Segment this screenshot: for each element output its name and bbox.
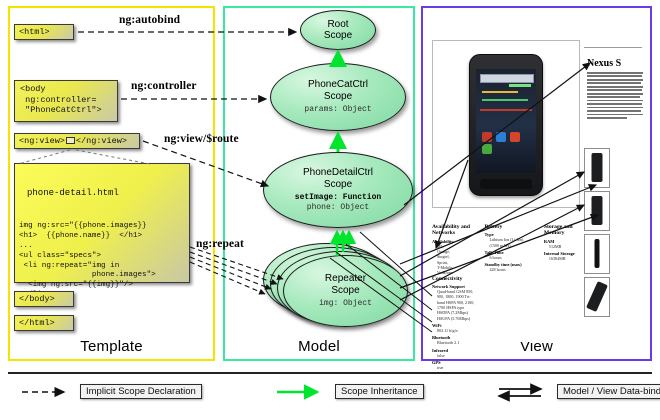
column-label-template: Template <box>10 338 213 355</box>
scope-root-name-line1: Root <box>327 19 348 30</box>
scope-repeater-props: img: Object <box>319 299 372 309</box>
spec-column-storage: Storage and Memory RAM 512MB Internal St… <box>544 224 592 261</box>
spec-values-1-2: 428 hours <box>484 267 534 272</box>
spec-column-battery: Battery Type Lithium Ion (Li-Ion)(1500 m… <box>484 224 534 273</box>
note-title: phone-detail.html <box>19 186 185 203</box>
phone-content-line-1 <box>482 91 518 93</box>
phone-url-bar <box>480 74 534 83</box>
legend-swatch-green-arrow-icon <box>275 385 327 399</box>
product-title: Nexus S <box>587 58 621 69</box>
spec-heading-3: Connectivity <box>432 276 484 282</box>
scope-phonedetailctrl-setimage: setImage: Function <box>295 193 381 202</box>
diagram-canvas: Template Model View <html> <body ng:cont… <box>0 0 660 420</box>
legend-item-implicit-scope-declaration: Implicit Scope Declaration <box>20 383 202 400</box>
scope-root: Root Scope <box>300 10 376 50</box>
product-description <box>587 72 643 121</box>
spec-values-0-0: M1,Orange,Singtel,Sprint,T-Mobile,Vodafo… <box>432 244 475 276</box>
ng-view-close-tag: </ng:view> <box>76 136 127 146</box>
edge-label-ng-controller: ng:controller <box>131 80 197 92</box>
phone-screen <box>476 69 536 173</box>
legend-label-scope-inheritance: Scope Inheritance <box>335 384 424 399</box>
scope-phonedetailctrl-props: setImage: Functionphone: Object <box>295 193 381 213</box>
scope-phonecatctrl-name-line1: PhoneCatCtrl <box>308 79 368 90</box>
phone-app-icon-1 <box>482 132 492 142</box>
thumb-image-1 <box>592 153 603 182</box>
view-top-rule <box>584 47 642 48</box>
edge-label-ng-autobind: ng:autobind <box>119 14 180 26</box>
phone-app-icon-3 <box>510 132 520 142</box>
spec-heading-0: Availability and Networks <box>432 224 475 237</box>
spec-values-3-0: Quad-band GSM 850,900, 1800, 1900 Tri-ba… <box>432 289 484 321</box>
spec-heading-2: Storage and Memory <box>544 224 592 237</box>
code-box-html-close: </html> <box>14 315 74 331</box>
spec-values-3-4: true <box>432 365 484 370</box>
spec-column-availability: Availability and Networks Availability M… <box>432 224 475 276</box>
legend-swatch-dashed-arrow-icon <box>20 385 72 399</box>
scope-phonedetailctrl-name-line1: PhoneDetailCtrl <box>303 167 373 178</box>
scope-repeater: Repeater Scope img: Object <box>283 255 408 327</box>
scope-phonecatctrl: PhoneCatCtrl Scope params: Object <box>270 63 406 131</box>
thumb-image-2 <box>592 196 603 225</box>
spec-values-2-0: 512MB <box>544 244 592 249</box>
scope-phonedetailctrl-phone: phone: Object <box>307 203 369 212</box>
code-box-ng-view: <ng:view></ng:view> <box>14 133 140 149</box>
legend-label-implicit-scope-declaration: Implicit Scope Declaration <box>80 384 202 399</box>
phone-home-button-row <box>480 179 532 189</box>
phone-hero-image-frame <box>432 40 580 208</box>
legend-swatch-double-arrow-icon <box>497 385 549 399</box>
legend-label-model-view-data-binding: Model / View Data-binding <box>557 384 660 399</box>
phone-device-illustration <box>469 54 543 196</box>
phone-app-icon-2 <box>496 132 506 142</box>
spec-heading-1: Battery <box>484 224 534 230</box>
spec-values-3-2: Bluetooth 2.1 <box>432 340 484 345</box>
scope-phonecatctrl-props: params: Object <box>304 105 371 115</box>
legend-item-scope-inheritance: Scope Inheritance <box>275 383 424 400</box>
legend-divider <box>8 372 652 374</box>
scope-phonedetailctrl: PhoneDetailCtrl Scope setImage: Function… <box>263 152 413 228</box>
legend-item-model-view-data-binding: Model / View Data-binding <box>497 383 660 400</box>
phone-content-line-3 <box>480 109 532 111</box>
phone-app-icon-4 <box>482 144 492 154</box>
spec-values-2-1: 16384MB <box>544 256 592 261</box>
spec-values-3-3: false <box>432 353 484 358</box>
edge-label-ng-view-route: ng:view/$route <box>164 133 239 145</box>
ng-view-open-tag: <ng:view> <box>19 136 65 146</box>
phone-status-bar-icons <box>509 84 531 87</box>
template-note-phone-detail: phone-detail.html img ng:src="{{phone.im… <box>14 163 190 283</box>
column-label-model: Model <box>225 338 413 355</box>
code-box-body-open: <body ng:controller= "PhoneCatCtrl"> <box>14 80 118 122</box>
scope-phonecatctrl-name-line2: Scope <box>324 91 352 102</box>
phone-app-dock <box>480 131 532 147</box>
scope-repeater-name-line1: Repeater <box>325 273 366 284</box>
code-box-body-close: </body> <box>14 291 74 307</box>
spec-column-connectivity: Connectivity Network Support Quad-band G… <box>432 276 484 371</box>
spec-values-3-1: 802.11 b/g/n <box>432 328 484 333</box>
scope-root-name-line2: Scope <box>324 30 352 41</box>
scope-repeater-name-line2: Scope <box>331 285 359 296</box>
spec-values-1-0: Lithium Ion (Li-Ion)(1500 mAH) <box>484 237 534 248</box>
spec-values-1-1: 6 hours <box>484 255 534 260</box>
edge-label-ng-repeat: ng:repeat <box>196 238 244 250</box>
view-rendered-page: Nexus S Availability and Networks Availa… <box>432 20 642 342</box>
scope-phonedetailctrl-name-line2: Scope <box>324 179 352 190</box>
spec-table: Availability and Networks Availability M… <box>432 224 642 370</box>
phone-content-line-2 <box>482 99 528 101</box>
code-box-html-open: <html> <box>14 24 74 40</box>
ng-view-placeholder-icon <box>66 137 75 144</box>
thumbnail-phone-front[interactable] <box>584 148 610 188</box>
